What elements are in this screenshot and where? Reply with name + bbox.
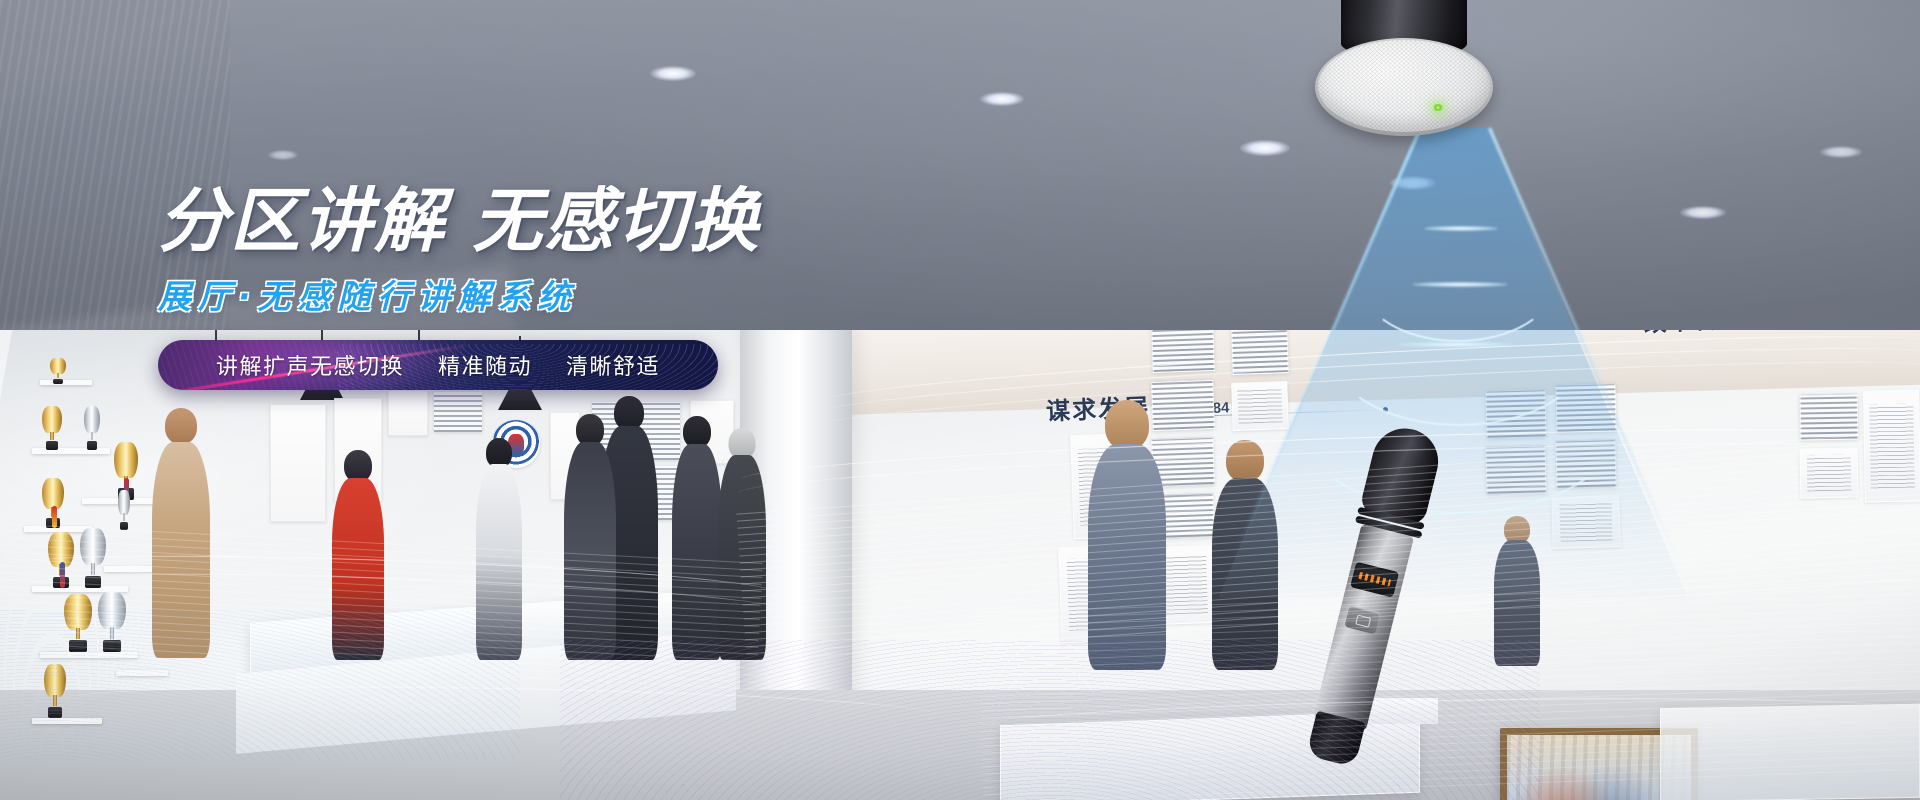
wall-document — [1863, 390, 1920, 503]
wall-document — [1800, 447, 1859, 498]
downlight-icon — [650, 66, 696, 81]
feature-tag-pill: 讲解扩声无感切换 精准随动 清晰舒适 — [158, 340, 718, 390]
sound-wave-highlight — [1424, 226, 1498, 231]
feature-tag-3: 清晰舒适 — [566, 349, 660, 381]
wall-photo — [434, 392, 482, 432]
visitor-figure — [476, 438, 522, 660]
wall-photo — [1800, 393, 1859, 440]
hero-banner: 谋求发展1952-1984 改革转型1984-2010 — [0, 0, 1920, 800]
sound-wave-highlight — [1398, 342, 1514, 347]
wall-panel — [270, 404, 326, 522]
wall-document — [1231, 381, 1289, 431]
display-case — [1660, 704, 1920, 800]
feature-tag-2: 精准随动 — [438, 349, 532, 381]
visitor-figure — [1088, 400, 1166, 670]
headline: 分区讲解 无感切换 — [158, 186, 918, 256]
downlight-icon — [268, 150, 298, 160]
subtitle: 展厅·无感随行讲解系统 — [158, 270, 918, 318]
feature-tags: 讲解扩声无感切换 精准随动 清晰舒适 — [158, 340, 718, 390]
downlight-icon — [1820, 146, 1862, 158]
visitor-figure — [152, 408, 210, 658]
wall-panel — [388, 390, 428, 436]
visitor-figure — [332, 450, 384, 660]
visitor-figure — [564, 414, 616, 660]
wall-photo — [1231, 330, 1289, 375]
visitor-figure — [718, 428, 766, 660]
downlight-icon — [1240, 140, 1290, 156]
wall-photo — [1151, 330, 1215, 373]
downlight-icon — [980, 92, 1024, 106]
speaker-status-led-icon — [1433, 104, 1443, 111]
downlight-icon — [1680, 206, 1726, 219]
visitor-figure — [672, 416, 722, 660]
hero-copy: 分区讲解 无感切换 展厅·无感随行讲解系统 讲解扩声无感切换 精准随动 清晰舒适 — [158, 186, 918, 390]
feature-tag-1: 讲解扩声无感切换 — [216, 349, 404, 381]
sound-wave-arc — [1300, 334, 1620, 514]
sound-wave-highlight — [1412, 282, 1508, 287]
speaker-grille — [1318, 40, 1490, 132]
ceiling-speaker — [1305, 0, 1501, 156]
